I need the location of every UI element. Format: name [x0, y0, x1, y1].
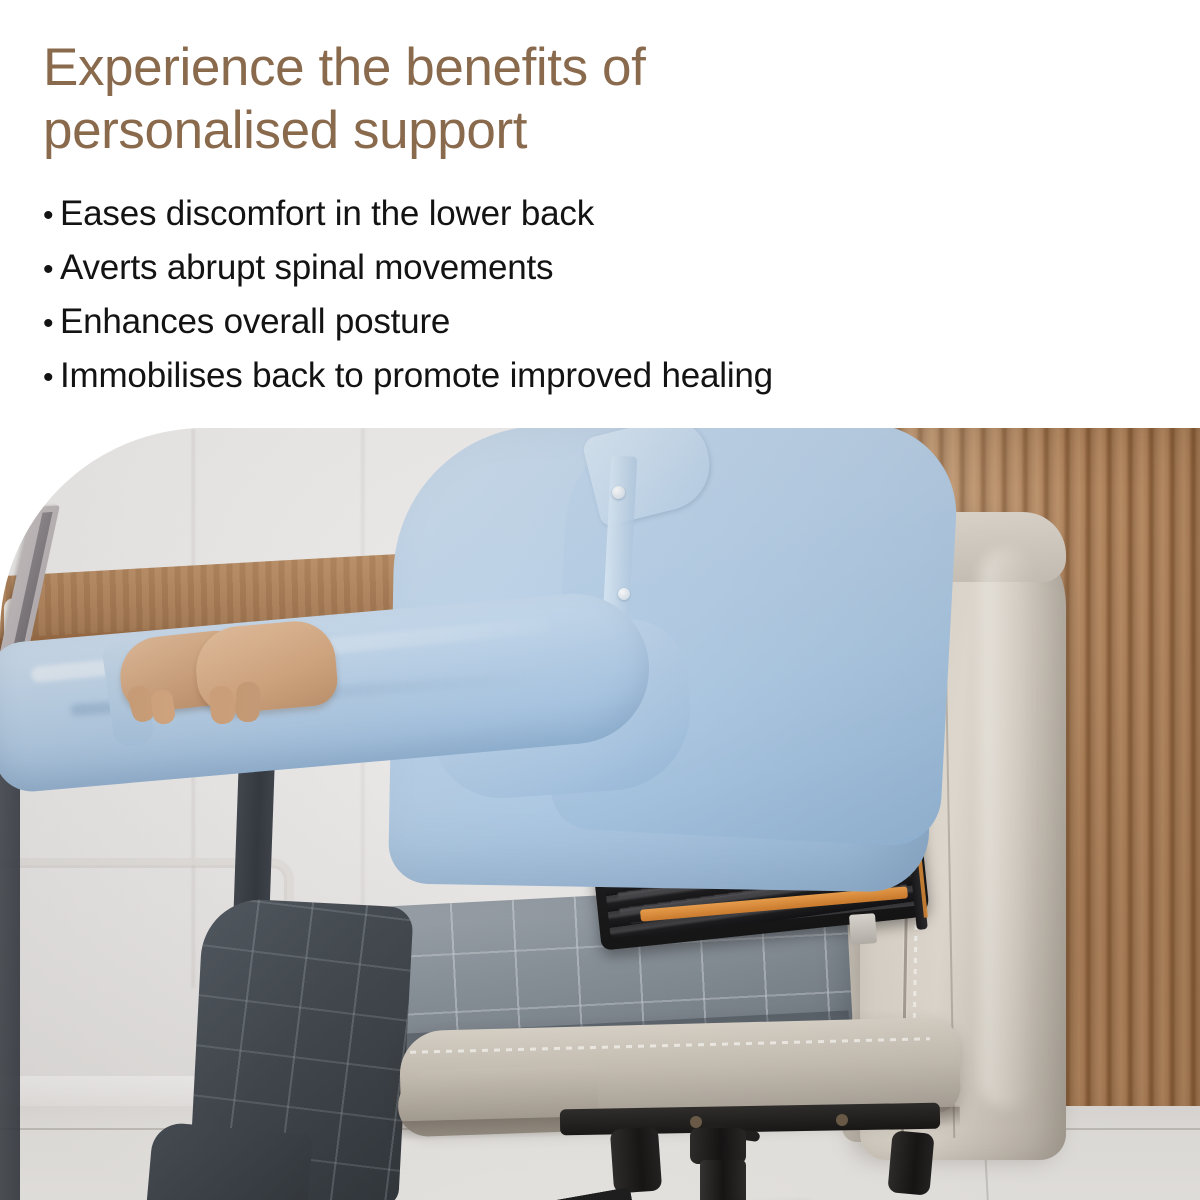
finger [235, 682, 260, 723]
promo-page: Experience the benefits of personalised … [0, 0, 1200, 1200]
page-title: Experience the benefits of personalised … [43, 36, 1043, 162]
finger [208, 685, 236, 725]
chair-tension-knob [887, 1130, 934, 1195]
list-item: • Immobilises back to promote improved h… [43, 350, 1103, 404]
product-lifestyle-photo [0, 428, 1200, 1200]
shirt-button [618, 588, 630, 600]
desk-leg [0, 728, 20, 1200]
chair-bolt [836, 1114, 848, 1126]
trousers-shin [147, 1121, 313, 1200]
copy-block: Experience the benefits of personalised … [0, 0, 1200, 428]
benefit-text: Eases discomfort in the lower back [60, 188, 594, 240]
list-item: • Eases discomfort in the lower back [43, 188, 1103, 242]
benefit-text: Enhances overall posture [60, 296, 450, 348]
headline-line-2: personalised support [43, 99, 1043, 162]
bullet-marker-icon: • [43, 190, 60, 242]
headline-line-1: Experience the benefits of [43, 36, 1043, 99]
chair-bolt [690, 1116, 702, 1128]
chair-gas-cylinder-top [690, 1128, 746, 1164]
bullet-marker-icon: • [43, 244, 60, 296]
benefit-text: Immobilises back to promote improved hea… [60, 350, 773, 402]
list-item: • Averts abrupt spinal movements [43, 242, 1103, 296]
bullet-marker-icon: • [43, 298, 60, 350]
benefits-list: • Eases discomfort in the lower back • A… [43, 188, 1103, 404]
shirt-button [612, 486, 625, 499]
chair-highlight [980, 548, 1034, 1108]
list-item: • Enhances overall posture [43, 296, 1103, 350]
bullet-marker-icon: • [43, 352, 60, 404]
chair-tension-knob [610, 1126, 662, 1193]
benefit-text: Averts abrupt spinal movements [60, 242, 553, 294]
back-brace-tab [849, 913, 877, 945]
chair-gas-cylinder [700, 1160, 746, 1200]
